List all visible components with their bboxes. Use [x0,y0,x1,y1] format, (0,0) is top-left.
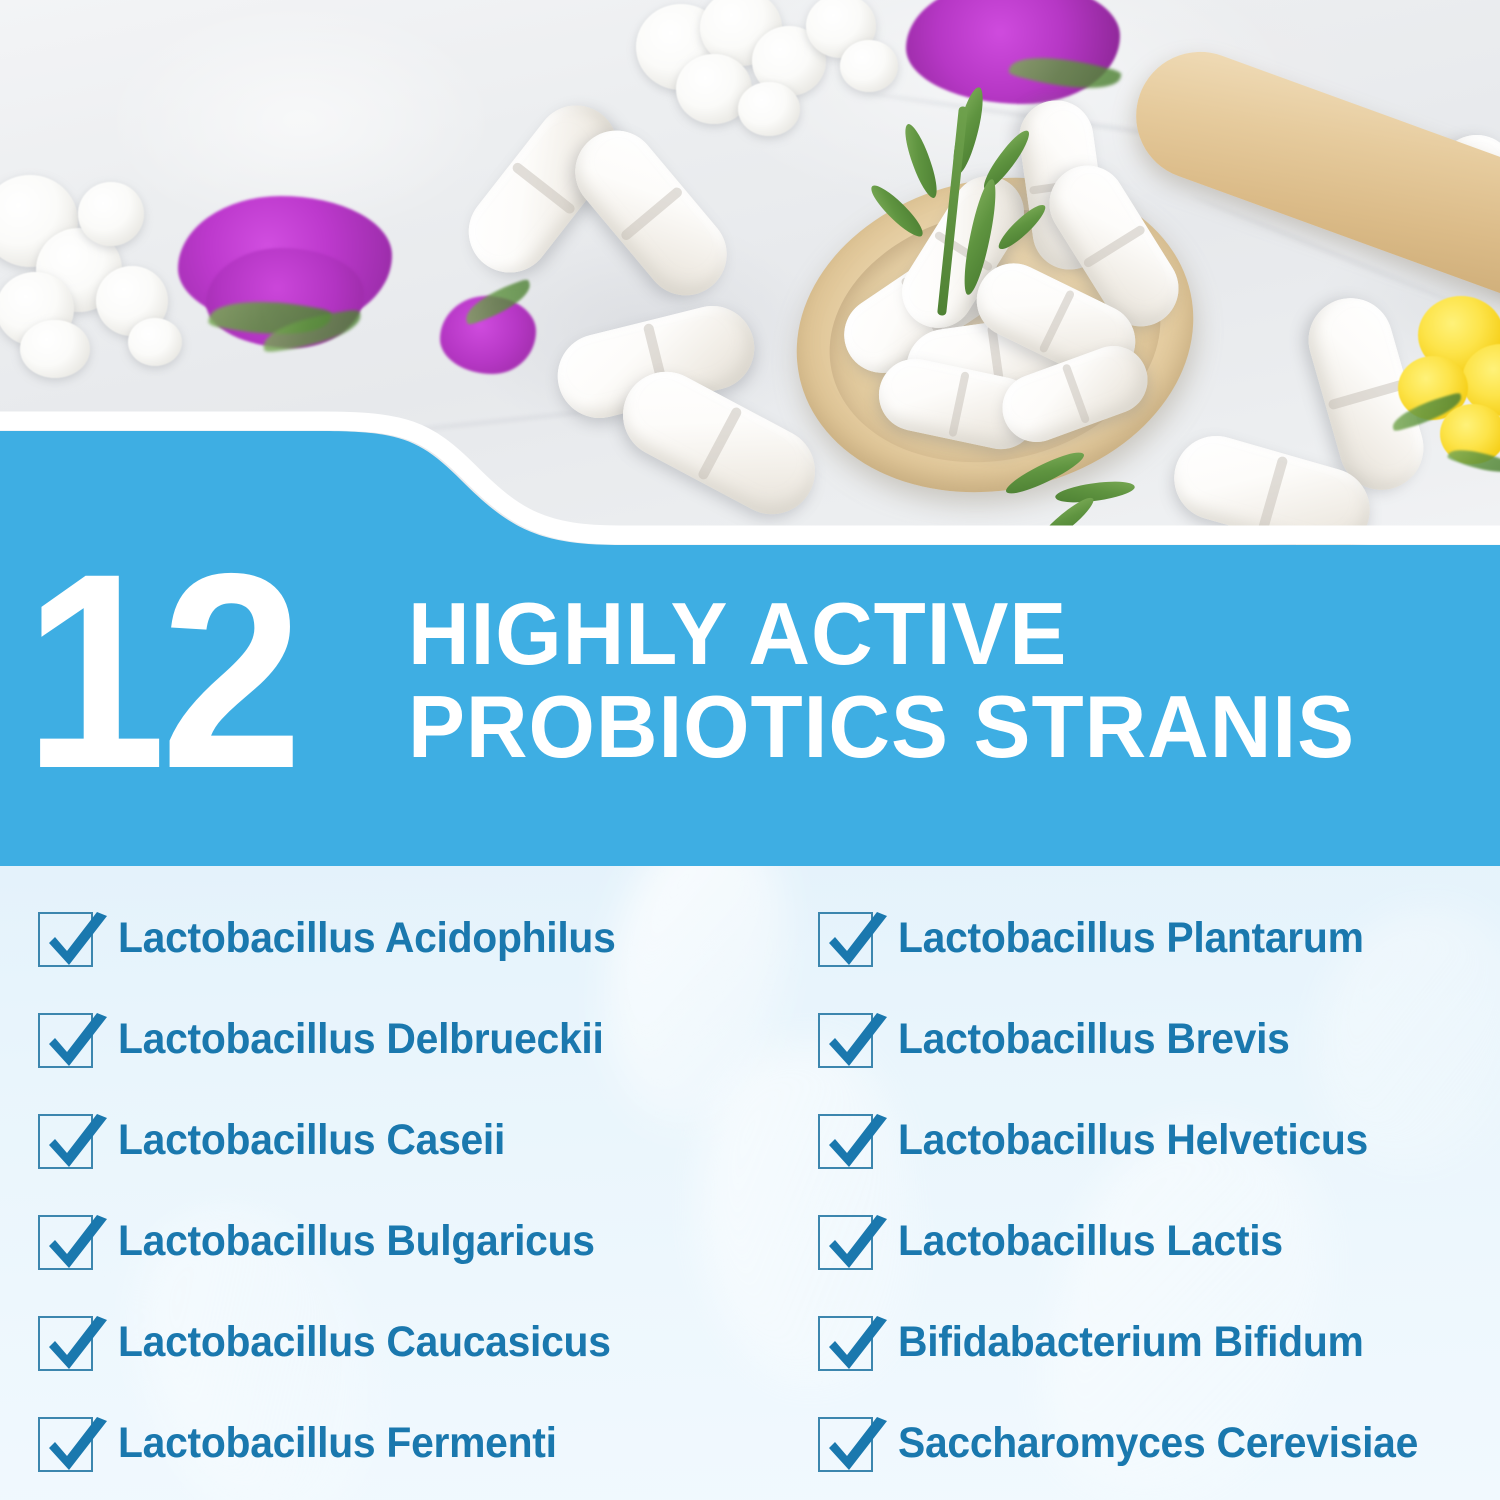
checkmark-icon [35,1000,113,1078]
strain-name: Lactobacillus Acidophilus [118,914,616,963]
strain-grid: Lactobacillus Acidophilus Lactobacillus … [0,866,1500,1500]
strain-list-item-right-4[interactable]: Bifidabacterium Bifidum [760,1292,1500,1393]
checkbox-checked-icon[interactable] [38,909,96,969]
checkmark-icon [815,1404,893,1482]
strain-list-item-right-2[interactable]: Lactobacillus Helveticus [760,1090,1500,1191]
strain-name: Lactobacillus Brevis [898,1015,1290,1064]
headline-banner: 12 HIGHLY ACTIVE PROBIOTICS STRANIS [0,395,1500,875]
white-flower [78,182,144,246]
checkmark-icon [35,899,113,977]
strain-list-item-left-1[interactable]: Lactobacillus Delbrueckii [0,989,760,1090]
checkbox-checked-icon[interactable] [38,1212,96,1272]
strain-name: Bifidabacterium Bifidum [898,1318,1364,1367]
white-flower [20,320,90,378]
headline-line-2: PROBIOTICS STRANIS [408,680,1451,773]
strain-checklist-section: Lactobacillus Acidophilus Lactobacillus … [0,866,1500,1500]
strain-name: Lactobacillus Fermenti [118,1419,557,1468]
checkmark-icon [35,1101,113,1179]
checkbox-checked-icon[interactable] [818,1313,876,1373]
checkmark-icon [815,1202,893,1280]
checkbox-checked-icon[interactable] [818,1212,876,1272]
checkmark-icon [35,1202,113,1280]
checkmark-icon [35,1404,113,1482]
strain-list-item-left-5[interactable]: Lactobacillus Fermenti [0,1393,760,1494]
strain-list-item-left-2[interactable]: Lactobacillus Caseii [0,1090,760,1191]
strain-name: Lactobacillus Helveticus [898,1116,1368,1165]
strain-list-item-right-1[interactable]: Lactobacillus Brevis [760,989,1500,1090]
checkmark-icon [815,1303,893,1381]
strain-name: Lactobacillus Plantarum [898,914,1364,963]
checkmark-icon [35,1303,113,1381]
strain-list-item-left-3[interactable]: Lactobacillus Bulgaricus [0,1191,760,1292]
checkbox-checked-icon[interactable] [818,909,876,969]
checkbox-checked-icon[interactable] [38,1010,96,1070]
strain-list-item-left-4[interactable]: Lactobacillus Caucasicus [0,1292,760,1393]
checkmark-icon [815,1101,893,1179]
checkbox-checked-icon[interactable] [38,1111,96,1171]
white-flower [128,318,182,366]
strain-list-item-right-0[interactable]: Lactobacillus Plantarum [760,888,1500,989]
checkmark-icon [815,1000,893,1078]
strain-count-number: 12 [24,543,297,799]
checkbox-checked-icon[interactable] [818,1010,876,1070]
strain-name: Lactobacillus Delbrueckii [118,1015,604,1064]
banner-headline: HIGHLY ACTIVE PROBIOTICS STRANIS [408,587,1451,774]
product-infographic: 12 HIGHLY ACTIVE PROBIOTICS STRANIS Lact… [0,0,1500,1500]
strain-name: Lactobacillus Lactis [898,1217,1283,1266]
strain-name: Lactobacillus Bulgaricus [118,1217,595,1266]
white-flower [738,82,800,136]
strain-name: Lactobacillus Caseii [118,1116,505,1165]
strain-name: Lactobacillus Caucasicus [118,1318,611,1367]
strain-list-item-right-5[interactable]: Saccharomyces Cerevisiae [760,1393,1500,1494]
white-flower [840,40,898,92]
checkbox-checked-icon[interactable] [818,1111,876,1171]
strain-name: Saccharomyces Cerevisiae [898,1419,1418,1468]
checkmark-icon [815,899,893,977]
checkbox-checked-icon[interactable] [38,1414,96,1474]
checkbox-checked-icon[interactable] [818,1414,876,1474]
strain-list-item-left-0[interactable]: Lactobacillus Acidophilus [0,888,760,989]
strain-list-item-right-3[interactable]: Lactobacillus Lactis [760,1191,1500,1292]
headline-line-1: HIGHLY ACTIVE [408,584,1067,683]
checkbox-checked-icon[interactable] [38,1313,96,1373]
